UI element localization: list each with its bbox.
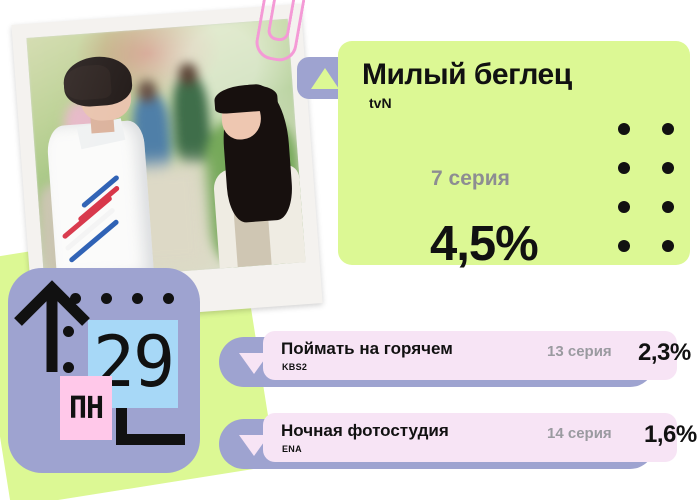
featured-title: Милый беглец (362, 58, 572, 92)
poster-canvas: 29 ПН Милый беглец tvN 7 серия 4,5% Пойм… (0, 0, 700, 500)
row-rating: 2,3% (638, 339, 691, 367)
calendar-corner-bracket (116, 408, 185, 445)
calendar-widget: 29 ПН (8, 268, 200, 473)
triangle-up-icon (311, 68, 339, 89)
row-episode: 13 серия (547, 343, 612, 360)
row-episode: 14 серия (547, 425, 612, 442)
row-network: ENA (282, 444, 302, 454)
calendar-weekday-label: ПН (60, 376, 112, 440)
row-rating: 1,6% (644, 421, 697, 449)
photo-frame (26, 19, 305, 282)
featured-network: tvN (369, 95, 392, 111)
featured-episode: 7 серия (431, 167, 510, 191)
row-title: Поймать на горячем (281, 339, 453, 359)
featured-rating: 4,5% (430, 216, 538, 272)
calendar-weekday-box: ПН (60, 376, 112, 440)
row-network: KBS2 (282, 362, 307, 372)
arrow-up-icon (12, 276, 98, 372)
row-chip: Поймать на горячем KBS2 13 серия 2,3% (263, 331, 677, 380)
featured-dot-grid (618, 123, 700, 279)
row-title: Ночная фотостудия (281, 421, 449, 441)
row-chip: Ночная фотостудия ENA 14 серия 1,6% (263, 413, 677, 462)
